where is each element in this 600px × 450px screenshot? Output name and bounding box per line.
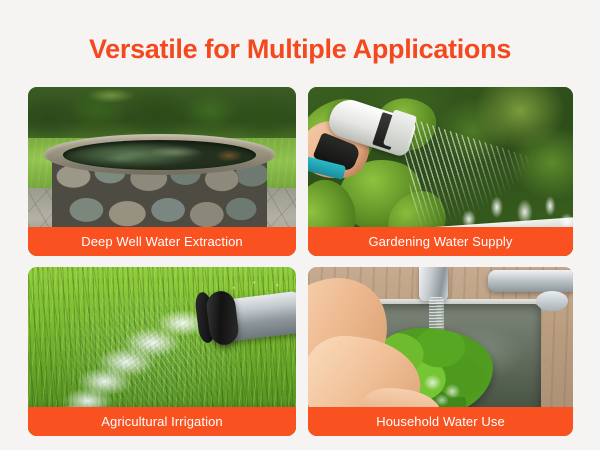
application-card-household[interactable]: Household Water Use xyxy=(308,267,573,436)
well-water-surface xyxy=(63,140,256,170)
faucet-handle xyxy=(536,291,568,311)
application-card-gardening[interactable]: Gardening Water Supply xyxy=(308,87,573,256)
card-caption: Deep Well Water Extraction xyxy=(28,227,296,256)
card-caption: Agricultural Irrigation xyxy=(28,407,296,436)
application-card-grid: Deep Well Water Extraction xyxy=(28,87,573,436)
applications-banner: Versatile for Multiple Applications xyxy=(0,0,600,450)
water-droplets xyxy=(221,277,285,304)
application-card-deep-well[interactable]: Deep Well Water Extraction xyxy=(28,87,296,256)
card-caption: Gardening Water Supply xyxy=(308,227,573,256)
application-card-irrigation[interactable]: Agricultural Irrigation xyxy=(28,267,296,436)
card-caption: Household Water Use xyxy=(308,407,573,436)
page-title: Versatile for Multiple Applications xyxy=(0,33,600,65)
faucet-spout xyxy=(419,267,448,301)
treeline-highlight xyxy=(87,88,135,102)
faucet-arm xyxy=(488,270,573,292)
